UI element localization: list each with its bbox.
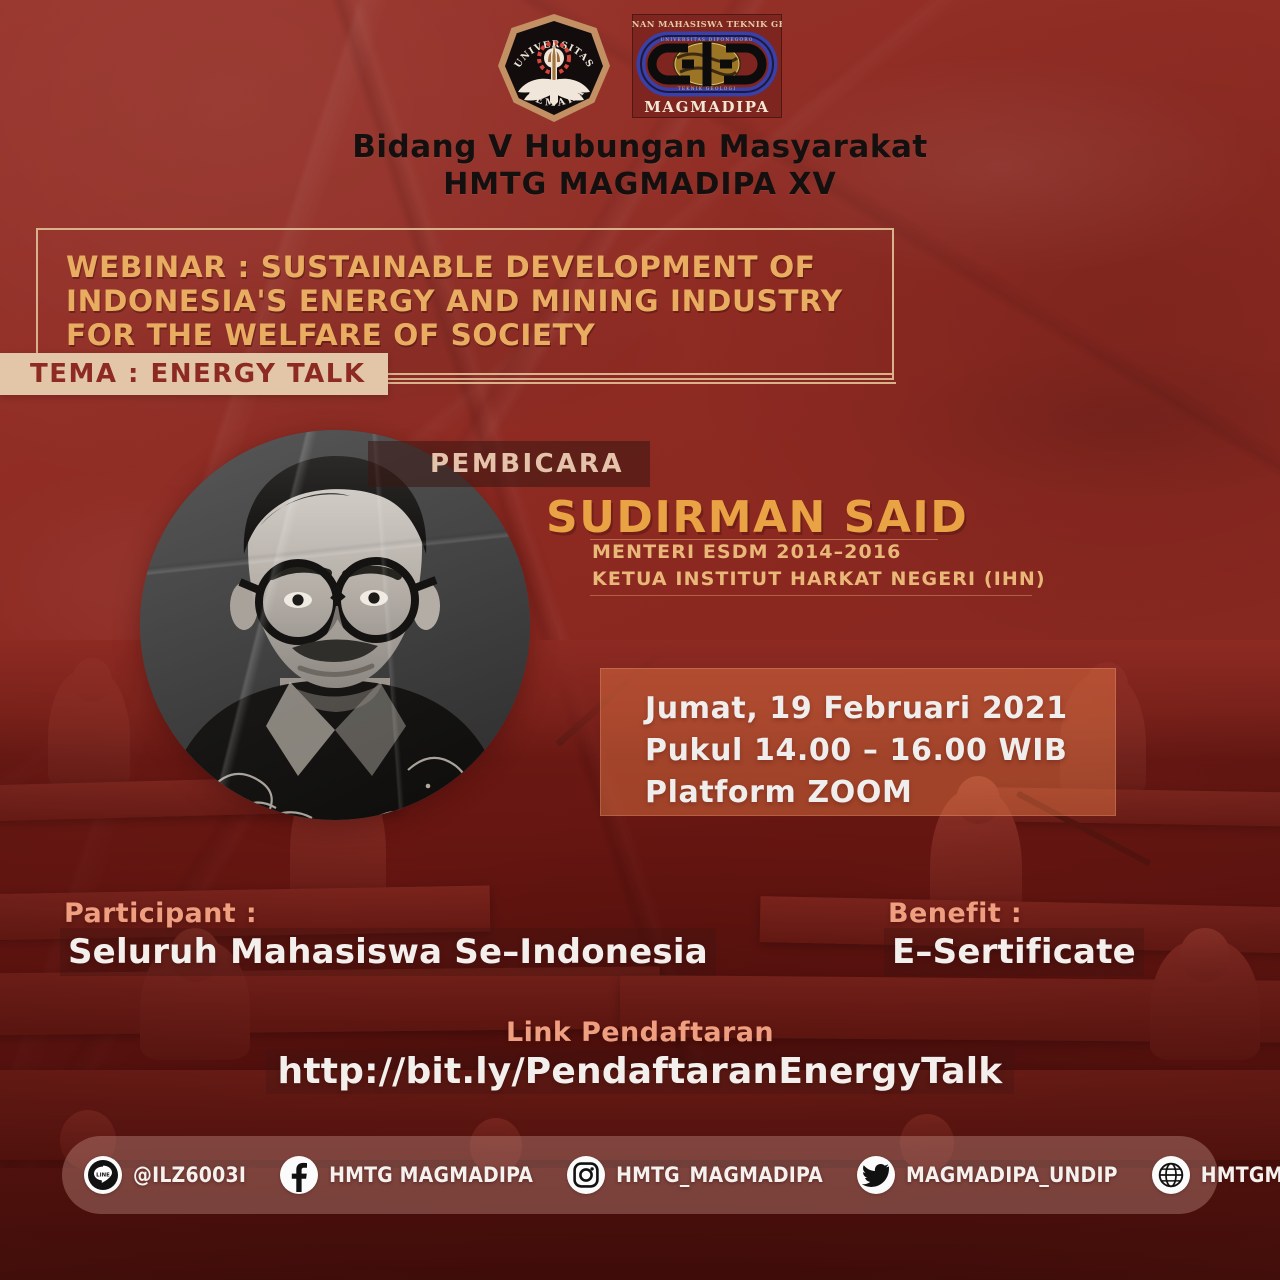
benefit-label: Benefit : xyxy=(888,898,1022,929)
schedule-platform: Platform ZOOM xyxy=(645,775,912,810)
line-handle: @ILZ6003I xyxy=(133,1163,246,1187)
pembicara-text: PEMBICARA xyxy=(430,449,624,479)
svg-text:MAGMADIPA: MAGMADIPA xyxy=(644,98,770,116)
social-footer-bar: LINE @ILZ6003I HMTG MAGMADIPA HMTG_M xyxy=(62,1136,1218,1214)
benefit-value-box: E–Sertificate xyxy=(884,928,1144,976)
magmadipa-logo: HIMPUNAN MAHASISWA TEKNIK GEOLOGI xyxy=(632,14,782,118)
org-line-1: Bidang V Hubungan Masyarakat xyxy=(0,128,1280,166)
speaker-section-label: PEMBICARA xyxy=(368,441,650,487)
twitter-icon xyxy=(857,1156,895,1194)
undip-logo: UNIVERSITAS DIPONEGORO SEMARANG xyxy=(498,14,610,122)
svg-text:TEKNIK GEOLOGI: TEKNIK GEOLOGI xyxy=(678,87,737,92)
globe-icon xyxy=(1152,1156,1190,1194)
poster-canvas: UNIVERSITAS DIPONEGORO SEMARANG xyxy=(0,0,1280,1280)
schedule-time: Pukul 14.00 – 16.00 WIB xyxy=(645,733,1067,768)
org-line-2: HMTG MAGMADIPA XV xyxy=(0,166,1280,204)
twitter-handle: MAGMADIPA_UNDIP xyxy=(906,1163,1118,1187)
webinar-title: WEBINAR : SUSTAINABLE DEVELOPMENT OF IND… xyxy=(66,250,896,352)
participant-value-box: Seluruh Mahasiswa Se–Indonesia xyxy=(60,928,716,976)
speaker-role-1: MENTERI ESDM 2014–2016 xyxy=(592,541,901,563)
social-line[interactable]: LINE @ILZ6003I xyxy=(84,1156,246,1194)
registration-label: Link Pendaftaran xyxy=(0,1017,1280,1048)
line-icon: LINE xyxy=(84,1156,122,1194)
social-instagram[interactable]: HMTG_MAGMADIPA xyxy=(567,1156,823,1194)
schedule-block: Jumat, 19 Februari 2021 Pukul 14.00 – 16… xyxy=(600,668,1116,816)
speaker-name: SUDIRMAN SAID xyxy=(546,492,968,543)
organization-header: Bidang V Hubungan Masyarakat HMTG MAGMAD… xyxy=(0,128,1280,204)
facebook-handle: HMTG MAGMADIPA xyxy=(329,1163,533,1187)
benefit-value: E–Sertificate xyxy=(892,932,1136,972)
header-logos: UNIVERSITAS DIPONEGORO SEMARANG xyxy=(0,14,1280,122)
participant-value: Seluruh Mahasiswa Se–Indonesia xyxy=(68,932,708,972)
registration-link-wrap: http://bit.ly/PendaftaranEnergyTalk xyxy=(0,1049,1280,1094)
social-website[interactable]: HMTGMAGMADIPA.COM xyxy=(1152,1156,1280,1194)
website-handle: HMTGMAGMADIPA.COM xyxy=(1201,1163,1280,1187)
tema-badge: TEMA : ENERGY TALK xyxy=(0,353,388,395)
speaker-portrait xyxy=(140,430,530,820)
title-frame-bottom-rule xyxy=(376,373,894,375)
instagram-handle: HMTG_MAGMADIPA xyxy=(616,1163,823,1187)
speaker-rule-top xyxy=(590,539,938,540)
registration-url[interactable]: http://bit.ly/PendaftaranEnergyTalk xyxy=(266,1049,1015,1094)
schedule-date: Jumat, 19 Februari 2021 xyxy=(645,691,1068,726)
tema-label: TEMA : ENERGY TALK xyxy=(30,359,366,389)
instagram-icon xyxy=(567,1156,605,1194)
social-twitter[interactable]: MAGMADIPA_UNDIP xyxy=(857,1156,1118,1194)
social-facebook[interactable]: HMTG MAGMADIPA xyxy=(280,1156,533,1194)
svg-text:HIMPUNAN MAHASISWA TEKNIK GEOL: HIMPUNAN MAHASISWA TEKNIK GEOLOGI xyxy=(632,19,782,29)
participant-label: Participant : xyxy=(64,898,257,929)
facebook-icon xyxy=(280,1156,318,1194)
svg-text:UNIVERSITAS DIPONEGORO: UNIVERSITAS DIPONEGORO xyxy=(660,38,753,43)
svg-text:LINE: LINE xyxy=(96,1173,110,1179)
speaker-rule-bottom xyxy=(590,595,1032,596)
speaker-role-2: KETUA INSTITUT HARKAT NEGERI (IHN) xyxy=(592,568,1046,590)
